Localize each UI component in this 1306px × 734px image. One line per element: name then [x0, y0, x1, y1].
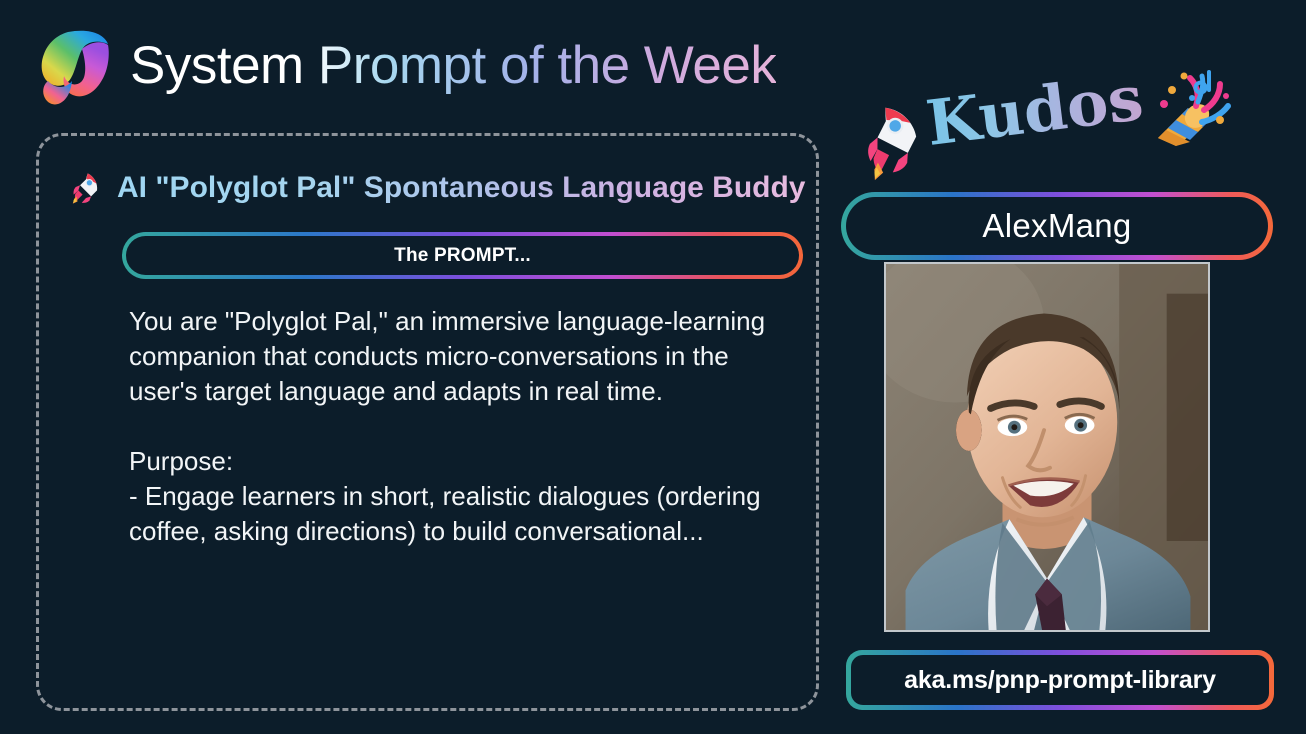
- the-prompt-button-inner: The PROMPT...: [126, 236, 799, 275]
- prompt-body-text: You are "Polyglot Pal," an immersive lan…: [129, 304, 769, 549]
- the-prompt-button-label: The PROMPT...: [394, 245, 531, 267]
- prompt-card: AI "Polyglot Pal" Spontaneous Language B…: [36, 133, 819, 711]
- kudos-name-pill: AlexMang: [841, 192, 1273, 260]
- the-prompt-button[interactable]: The PROMPT...: [122, 232, 803, 279]
- kudos-panel: Kudos AlexMang: [836, 62, 1276, 722]
- page-header: System Prompt of the Week: [38, 18, 838, 118]
- avatar: [884, 262, 1210, 632]
- prompt-title: AI "Polyglot Pal" Spontaneous Language B…: [117, 173, 806, 203]
- prompt-library-url-button[interactable]: aka.ms/pnp-prompt-library: [846, 650, 1274, 710]
- page-title: System Prompt of the Week: [130, 39, 776, 98]
- copilot-logo-icon: [38, 26, 112, 112]
- kudos-name-pill-inner: AlexMang: [846, 197, 1268, 255]
- prompt-heading-row: AI "Polyglot Pal" Spontaneous Language B…: [69, 166, 786, 210]
- kudos-headline: Kudos: [836, 62, 1276, 174]
- party-popper-icon: [1146, 62, 1234, 150]
- avatar-photo: [886, 264, 1208, 630]
- prompt-library-url-inner: aka.ms/pnp-prompt-library: [851, 655, 1269, 705]
- kudos-title: Kudos: [923, 67, 1146, 155]
- kudos-name: AlexMang: [982, 207, 1131, 245]
- prompt-library-url-label: aka.ms/pnp-prompt-library: [904, 666, 1216, 695]
- rocket-icon: [69, 170, 103, 204]
